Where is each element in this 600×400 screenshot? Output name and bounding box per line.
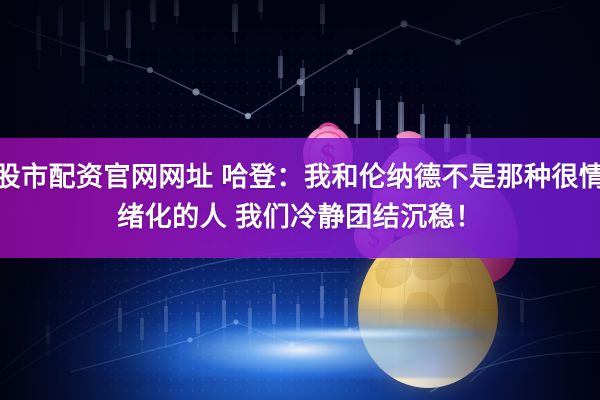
banner-image: $ $ $: [0, 0, 600, 400]
headline-line-1: 股市配资官网网址 哈登：我和伦纳德不是那种很情: [0, 160, 600, 196]
headline-text: 股市配资官网网址 哈登：我和伦纳德不是那种很情 绪化的人 我们冷静团结沉稳！: [0, 138, 600, 258]
headline-line-2: 绪化的人 我们冷静团结沉稳！: [117, 200, 483, 236]
